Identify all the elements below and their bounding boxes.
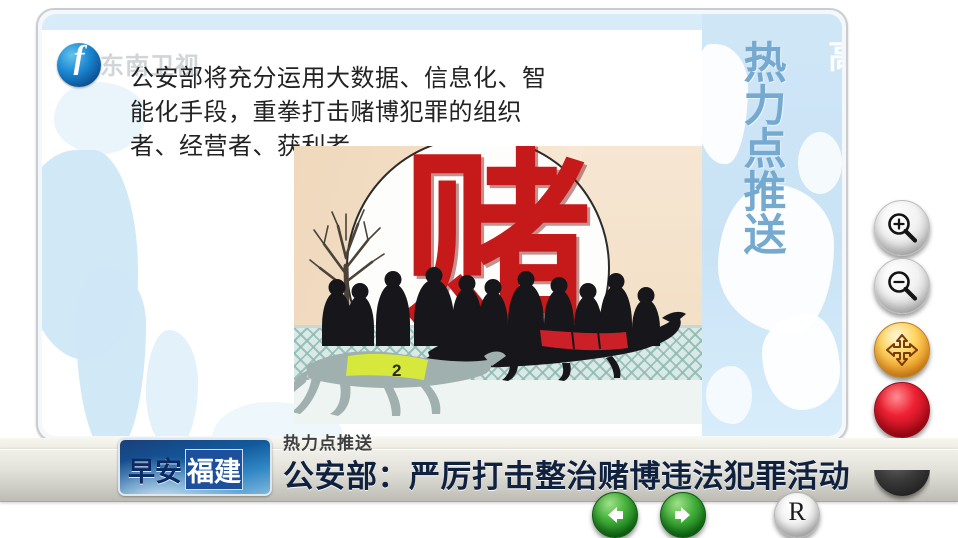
continent-shape-icon: [798, 132, 842, 194]
zoom-out-button[interactable]: [874, 258, 930, 314]
slide-side-panel: 热力点推送 高: [702, 14, 842, 436]
record-r-button[interactable]: R: [774, 492, 820, 538]
channel-logo: f: [57, 43, 101, 87]
arrow-left-icon: [602, 502, 628, 528]
dog-number-label: 2: [392, 361, 401, 380]
program-logo-part2: 福建: [185, 449, 243, 490]
zoom-in-button[interactable]: [874, 200, 930, 256]
corner-knob[interactable]: [874, 470, 930, 506]
continent-shape-icon: [706, 366, 752, 424]
map-blob-icon: [146, 330, 198, 436]
slide-canvas: 热力点推送 高 f 东南卫视 公安部将充分运用大数据、信息化、智能化手段，重拳打…: [42, 14, 842, 436]
magnifier-plus-icon: [885, 211, 919, 245]
solid-circle-icon: [897, 405, 907, 415]
news-headline: 公安部：严厉打击整治赌博违法犯罪活动: [283, 451, 850, 496]
forward-button[interactable]: [660, 492, 706, 538]
screen: 热力点推送 高 f 东南卫视 公安部将充分运用大数据、信息化、智能化手段，重拳打…: [0, 0, 958, 538]
back-button[interactable]: [592, 492, 638, 538]
vertical-slogan: 热力点推送: [728, 40, 786, 255]
pan-button[interactable]: [874, 322, 930, 378]
clipped-edge-character: 高: [828, 40, 842, 74]
slide-viewer[interactable]: 热力点推送 高 f 东南卫视 公安部将充分运用大数据、信息化、智能化手段，重拳打…: [36, 8, 848, 442]
four-way-arrows-icon: [886, 334, 918, 366]
program-logo-part1: 早安: [128, 450, 182, 489]
arrow-right-icon: [670, 502, 696, 528]
channel-logo-letter: f: [57, 40, 101, 77]
greyhound-gray-icon: 2: [294, 326, 508, 418]
program-logo: 早安 福建: [118, 438, 272, 496]
record-r-label: R: [774, 497, 820, 527]
illustration-gambling: 赌: [294, 146, 702, 424]
continent-shape-icon: [762, 314, 840, 410]
stop-button[interactable]: [874, 382, 930, 438]
magnifier-minus-icon: [885, 269, 919, 303]
map-blob-icon: [76, 266, 146, 436]
